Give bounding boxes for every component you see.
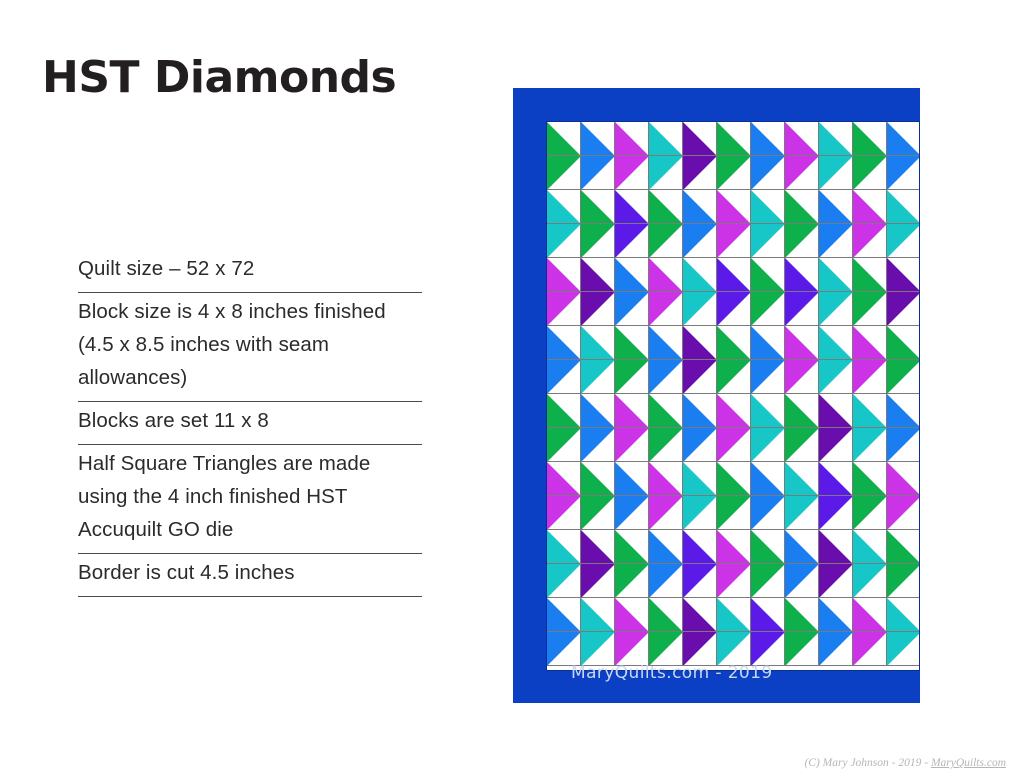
quilt-block — [649, 394, 683, 462]
quilt-block-grid — [547, 122, 920, 666]
hst-triangle — [683, 156, 717, 190]
hst-unit-bottom — [649, 428, 683, 462]
hst-unit-bottom — [581, 496, 615, 530]
hst-triangle — [717, 428, 751, 462]
hst-unit-top — [717, 462, 751, 496]
hst-triangle — [581, 122, 615, 156]
hst-triangle — [547, 394, 581, 428]
hst-unit-bottom — [683, 496, 717, 530]
hst-unit-bottom — [819, 428, 853, 462]
hst-unit-top — [683, 190, 717, 224]
hst-unit-bottom — [649, 156, 683, 190]
hst-unit-top — [717, 326, 751, 360]
hst-unit-bottom — [581, 292, 615, 326]
hst-unit-top — [819, 190, 853, 224]
hst-triangle — [717, 632, 751, 666]
hst-triangle — [819, 632, 853, 666]
hst-triangle — [683, 122, 717, 156]
hst-triangle — [717, 224, 751, 258]
hst-unit-bottom — [887, 428, 920, 462]
quilt-block — [751, 122, 785, 190]
hst-triangle — [683, 258, 717, 292]
quilt-block — [615, 598, 649, 666]
hst-unit-top — [683, 122, 717, 156]
hst-triangle — [819, 564, 853, 598]
quilt-block — [649, 258, 683, 326]
quilt-block — [717, 326, 751, 394]
hst-triangle — [751, 258, 785, 292]
hst-unit-top — [581, 394, 615, 428]
hst-unit-bottom — [615, 564, 649, 598]
hst-unit-top — [887, 190, 920, 224]
hst-unit-top — [683, 394, 717, 428]
hst-triangle — [853, 292, 887, 326]
quilt-block — [547, 122, 581, 190]
hst-triangle — [615, 394, 649, 428]
hst-unit-bottom — [819, 564, 853, 598]
hst-triangle — [683, 224, 717, 258]
hst-triangle — [683, 496, 717, 530]
hst-unit-bottom — [887, 496, 920, 530]
hst-unit-bottom — [717, 564, 751, 598]
hst-triangle — [887, 122, 920, 156]
hst-unit-bottom — [717, 632, 751, 666]
hst-unit-bottom — [819, 292, 853, 326]
quilt-block — [887, 190, 920, 258]
hst-unit-bottom — [853, 224, 887, 258]
quilt-block — [887, 530, 920, 598]
hst-unit-top — [615, 394, 649, 428]
hst-triangle — [683, 530, 717, 564]
hst-unit-top — [615, 190, 649, 224]
hst-triangle — [887, 564, 920, 598]
spec-text: Block size is 4 x 8 inches finished (4.5… — [78, 295, 422, 394]
hst-triangle — [717, 190, 751, 224]
hst-triangle — [785, 530, 819, 564]
hst-unit-top — [649, 394, 683, 428]
spec-text: Blocks are set 11 x 8 — [78, 404, 422, 437]
hst-unit-top — [853, 258, 887, 292]
hst-unit-bottom — [615, 292, 649, 326]
quilt-block — [649, 462, 683, 530]
hst-triangle — [649, 122, 683, 156]
quilt-block — [887, 462, 920, 530]
quilt-block — [547, 326, 581, 394]
slide-canvas: HST Diamonds Quilt size – 52 x 72Block s… — [0, 0, 1024, 779]
hst-unit-top — [581, 598, 615, 632]
quilt-block — [683, 394, 717, 462]
hst-triangle — [547, 496, 581, 530]
hst-unit-bottom — [547, 428, 581, 462]
quilt-block — [581, 462, 615, 530]
hst-triangle — [547, 326, 581, 360]
hst-triangle — [819, 258, 853, 292]
hst-unit-bottom — [649, 496, 683, 530]
hst-triangle — [683, 598, 717, 632]
hst-unit-top — [683, 598, 717, 632]
hst-unit-bottom — [853, 428, 887, 462]
hst-unit-top — [853, 462, 887, 496]
hst-triangle — [649, 598, 683, 632]
hst-unit-top — [581, 190, 615, 224]
hst-triangle — [547, 428, 581, 462]
hst-unit-top — [819, 530, 853, 564]
hst-triangle — [581, 292, 615, 326]
hst-unit-bottom — [887, 156, 920, 190]
hst-unit-bottom — [785, 496, 819, 530]
hst-unit-top — [615, 530, 649, 564]
hst-triangle — [649, 394, 683, 428]
hst-unit-top — [683, 258, 717, 292]
hst-unit-top — [547, 326, 581, 360]
quilt-block — [649, 530, 683, 598]
hst-unit-bottom — [581, 564, 615, 598]
quilt-block — [683, 122, 717, 190]
quilt-block — [615, 394, 649, 462]
hst-unit-bottom — [853, 156, 887, 190]
hst-triangle — [615, 360, 649, 394]
hst-triangle — [887, 190, 920, 224]
hst-triangle — [649, 496, 683, 530]
quilt-block — [581, 598, 615, 666]
hst-unit-top — [751, 462, 785, 496]
hst-triangle — [751, 190, 785, 224]
quilt-block — [887, 326, 920, 394]
hst-unit-top — [853, 122, 887, 156]
hst-unit-bottom — [785, 428, 819, 462]
hst-triangle — [615, 156, 649, 190]
quilt-block — [853, 326, 887, 394]
hst-unit-bottom — [819, 156, 853, 190]
quilt-block — [819, 394, 853, 462]
hst-triangle — [581, 598, 615, 632]
hst-triangle — [785, 632, 819, 666]
hst-unit-bottom — [751, 564, 785, 598]
footer-credit-text: (C) Mary Johnson - 2019 - — [804, 757, 930, 769]
hst-unit-top — [751, 598, 785, 632]
hst-triangle — [717, 496, 751, 530]
hst-triangle — [581, 564, 615, 598]
hst-triangle — [785, 496, 819, 530]
hst-unit-bottom — [547, 292, 581, 326]
hst-triangle — [751, 632, 785, 666]
hst-triangle — [853, 326, 887, 360]
footer-credit: (C) Mary Johnson - 2019 - MaryQuilts.com — [804, 757, 1006, 769]
hst-triangle — [649, 360, 683, 394]
hst-triangle — [751, 428, 785, 462]
hst-triangle — [717, 258, 751, 292]
hst-triangle — [683, 564, 717, 598]
hst-unit-top — [819, 394, 853, 428]
hst-triangle — [581, 360, 615, 394]
quilt-block — [717, 530, 751, 598]
hst-unit-top — [853, 598, 887, 632]
hst-unit-bottom — [785, 564, 819, 598]
hst-triangle — [819, 462, 853, 496]
hst-triangle — [547, 258, 581, 292]
hst-triangle — [751, 122, 785, 156]
spec-row: Half Square Triangles are made using the… — [78, 445, 422, 554]
hst-unit-top — [581, 326, 615, 360]
hst-unit-bottom — [751, 360, 785, 394]
hst-triangle — [853, 258, 887, 292]
quilt-block — [853, 462, 887, 530]
hst-triangle — [615, 428, 649, 462]
hst-triangle — [887, 598, 920, 632]
hst-triangle — [785, 156, 819, 190]
hst-triangle — [853, 122, 887, 156]
hst-unit-bottom — [785, 224, 819, 258]
hst-unit-bottom — [887, 292, 920, 326]
quilt-block — [649, 122, 683, 190]
hst-unit-bottom — [853, 292, 887, 326]
hst-triangle — [615, 292, 649, 326]
quilt-block — [547, 190, 581, 258]
quilt-block — [717, 190, 751, 258]
hst-unit-top — [751, 394, 785, 428]
hst-unit-bottom — [683, 224, 717, 258]
hst-unit-top — [751, 258, 785, 292]
hst-unit-bottom — [751, 428, 785, 462]
hst-unit-bottom — [819, 632, 853, 666]
hst-triangle — [615, 190, 649, 224]
hst-triangle — [819, 190, 853, 224]
hst-unit-top — [819, 122, 853, 156]
hst-unit-bottom — [887, 564, 920, 598]
quilt-block — [683, 598, 717, 666]
hst-triangle — [887, 258, 920, 292]
hst-unit-top — [819, 258, 853, 292]
hst-triangle — [717, 156, 751, 190]
hst-triangle — [785, 564, 819, 598]
hst-unit-top — [819, 326, 853, 360]
quilt-block — [581, 530, 615, 598]
hst-triangle — [615, 598, 649, 632]
hst-unit-bottom — [751, 632, 785, 666]
hst-unit-top — [683, 530, 717, 564]
hst-unit-top — [649, 598, 683, 632]
hst-triangle — [819, 598, 853, 632]
hst-unit-bottom — [887, 360, 920, 394]
hst-unit-bottom — [717, 428, 751, 462]
hst-unit-top — [751, 122, 785, 156]
hst-unit-bottom — [751, 496, 785, 530]
hst-unit-bottom — [683, 428, 717, 462]
hst-unit-top — [887, 122, 920, 156]
hst-triangle — [751, 598, 785, 632]
hst-unit-top — [717, 190, 751, 224]
hst-triangle — [785, 122, 819, 156]
hst-triangle — [683, 632, 717, 666]
hst-triangle — [615, 326, 649, 360]
hst-unit-bottom — [649, 632, 683, 666]
hst-triangle — [819, 496, 853, 530]
hst-unit-top — [819, 598, 853, 632]
hst-unit-bottom — [785, 292, 819, 326]
hst-triangle — [547, 598, 581, 632]
quilt-block — [683, 462, 717, 530]
hst-triangle — [581, 224, 615, 258]
hst-triangle — [887, 360, 920, 394]
hst-triangle — [581, 632, 615, 666]
hst-triangle — [819, 156, 853, 190]
hst-triangle — [717, 360, 751, 394]
hst-triangle — [547, 360, 581, 394]
quilt-block — [785, 394, 819, 462]
hst-triangle — [581, 394, 615, 428]
hst-triangle — [717, 292, 751, 326]
hst-triangle — [649, 190, 683, 224]
quilt-block — [751, 258, 785, 326]
hst-triangle — [785, 190, 819, 224]
quilt-block — [649, 598, 683, 666]
hst-unit-top — [615, 598, 649, 632]
hst-triangle — [683, 462, 717, 496]
hst-unit-bottom — [785, 632, 819, 666]
quilt-block — [547, 258, 581, 326]
hst-triangle — [751, 360, 785, 394]
hst-triangle — [853, 190, 887, 224]
hst-unit-top — [785, 122, 819, 156]
hst-unit-top — [615, 462, 649, 496]
hst-triangle — [581, 428, 615, 462]
hst-unit-top — [547, 258, 581, 292]
hst-unit-top — [819, 462, 853, 496]
hst-unit-top — [649, 530, 683, 564]
hst-triangle — [785, 598, 819, 632]
quilt-block — [615, 122, 649, 190]
quilt-block — [819, 530, 853, 598]
hst-unit-top — [785, 462, 819, 496]
hst-triangle — [717, 462, 751, 496]
hst-unit-bottom — [581, 224, 615, 258]
quilt-block — [819, 462, 853, 530]
hst-triangle — [819, 428, 853, 462]
hst-unit-top — [581, 122, 615, 156]
hst-unit-bottom — [649, 292, 683, 326]
hst-unit-bottom — [615, 632, 649, 666]
hst-triangle — [853, 462, 887, 496]
hst-unit-top — [649, 122, 683, 156]
quilt-block — [887, 258, 920, 326]
hst-unit-bottom — [819, 496, 853, 530]
hst-triangle — [547, 156, 581, 190]
hst-unit-bottom — [581, 156, 615, 190]
quilt-block — [819, 598, 853, 666]
hst-triangle — [785, 224, 819, 258]
hst-unit-bottom — [581, 632, 615, 666]
hst-unit-bottom — [615, 360, 649, 394]
quilt-block — [785, 190, 819, 258]
hst-triangle — [615, 530, 649, 564]
hst-triangle — [887, 428, 920, 462]
hst-triangle — [581, 190, 615, 224]
hst-triangle — [615, 462, 649, 496]
quilt-block — [717, 462, 751, 530]
hst-unit-bottom — [581, 428, 615, 462]
quilt-block — [717, 258, 751, 326]
hst-triangle — [615, 564, 649, 598]
quilt-block — [581, 326, 615, 394]
quilt-block — [649, 190, 683, 258]
quilt-block — [785, 326, 819, 394]
hst-triangle — [853, 530, 887, 564]
quilt-block — [887, 598, 920, 666]
hst-triangle — [819, 394, 853, 428]
quilt-block — [751, 530, 785, 598]
quilt-block — [751, 598, 785, 666]
spec-text: Quilt size – 52 x 72 — [78, 252, 422, 285]
quilt-block — [717, 598, 751, 666]
hst-unit-top — [785, 326, 819, 360]
hst-triangle — [751, 292, 785, 326]
hst-unit-bottom — [615, 156, 649, 190]
hst-triangle — [853, 564, 887, 598]
hst-unit-top — [717, 394, 751, 428]
hst-unit-top — [785, 394, 819, 428]
spec-row: Block size is 4 x 8 inches finished (4.5… — [78, 293, 422, 402]
hst-triangle — [819, 224, 853, 258]
hst-unit-top — [649, 462, 683, 496]
hst-triangle — [581, 326, 615, 360]
hst-unit-top — [649, 190, 683, 224]
hst-unit-top — [785, 190, 819, 224]
hst-triangle — [581, 258, 615, 292]
hst-triangle — [547, 122, 581, 156]
quilt-spec-list: Quilt size – 52 x 72Block size is 4 x 8 … — [78, 252, 422, 597]
spec-row: Quilt size – 52 x 72 — [78, 252, 422, 293]
hst-triangle — [751, 156, 785, 190]
quilt-block — [547, 598, 581, 666]
hst-triangle — [853, 394, 887, 428]
quilt-block — [887, 122, 920, 190]
hst-unit-bottom — [547, 360, 581, 394]
footer-credit-link[interactable]: MaryQuilts.com — [931, 757, 1006, 769]
hst-unit-bottom — [819, 224, 853, 258]
hst-triangle — [683, 190, 717, 224]
hst-triangle — [751, 326, 785, 360]
hst-unit-bottom — [785, 156, 819, 190]
quilt-block — [751, 190, 785, 258]
quilt-block — [615, 258, 649, 326]
hst-unit-top — [887, 530, 920, 564]
hst-unit-bottom — [683, 564, 717, 598]
hst-triangle — [581, 496, 615, 530]
hst-unit-top — [717, 122, 751, 156]
hst-unit-bottom — [853, 496, 887, 530]
hst-triangle — [717, 530, 751, 564]
hst-unit-bottom — [717, 292, 751, 326]
hst-triangle — [683, 326, 717, 360]
hst-triangle — [887, 462, 920, 496]
hst-triangle — [547, 462, 581, 496]
hst-unit-top — [615, 258, 649, 292]
hst-unit-bottom — [887, 632, 920, 666]
quilt-interior — [546, 121, 920, 671]
hst-unit-bottom — [683, 292, 717, 326]
hst-unit-top — [887, 394, 920, 428]
hst-triangle — [717, 326, 751, 360]
hst-triangle — [853, 632, 887, 666]
hst-unit-top — [547, 598, 581, 632]
quilt-block — [785, 530, 819, 598]
hst-triangle — [887, 530, 920, 564]
hst-unit-bottom — [649, 224, 683, 258]
hst-unit-top — [887, 326, 920, 360]
quilt-block — [547, 462, 581, 530]
hst-unit-bottom — [683, 632, 717, 666]
quilt-block — [547, 530, 581, 598]
